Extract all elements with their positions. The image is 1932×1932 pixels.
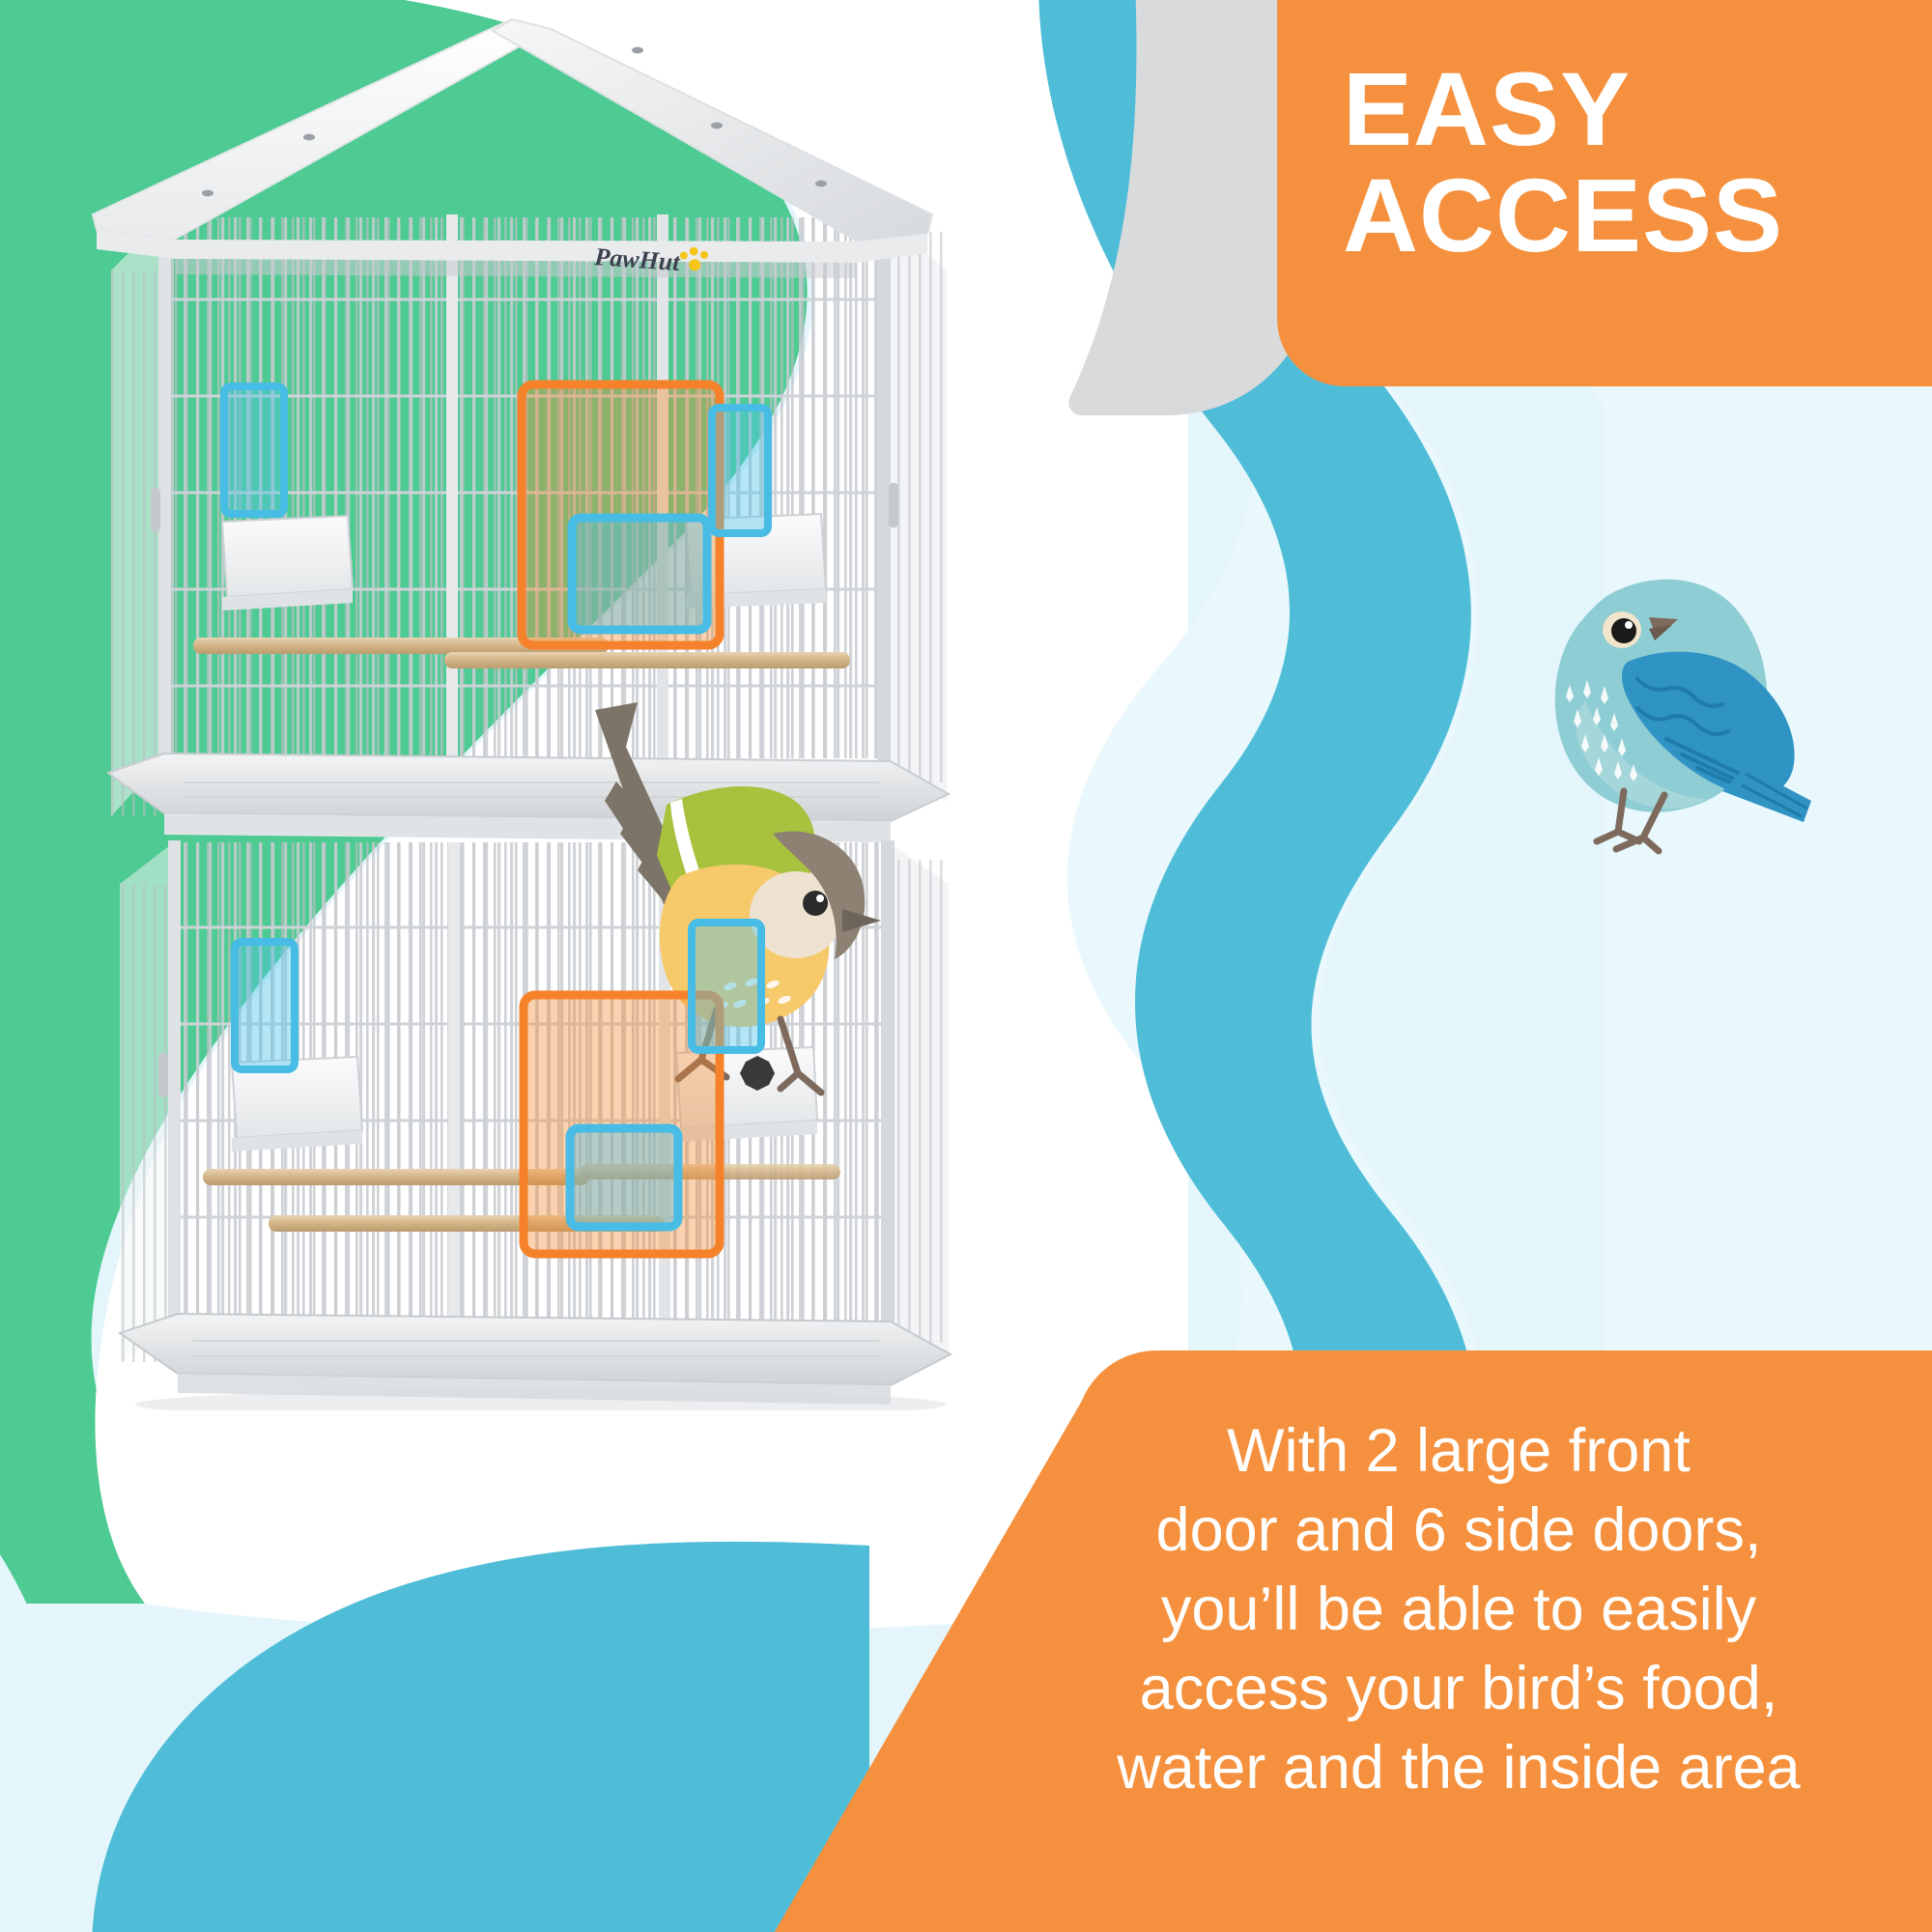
body-copy: With 2 large front door and 6 side doors…: [995, 1412, 1922, 1807]
body-line-1: With 2 large front: [995, 1412, 1922, 1492]
highlight-lower-left-side-door: [235, 942, 295, 1069]
bluebird-eye-glint: [1625, 621, 1633, 629]
blue-bird-illustration: [1492, 555, 1908, 874]
highlight-lower-right-side-door: [692, 923, 761, 1050]
headline-line-2: ACCESS: [1343, 162, 1932, 269]
highlight-lower-center-feeder-door: [570, 1128, 678, 1227]
body-line-2: door and 6 side doors,: [995, 1492, 1922, 1571]
page-title: EASY ACCESS: [1343, 56, 1932, 269]
marketing-banner: PawHut: [0, 0, 1932, 1932]
body-line-3: you’ll be able to easily: [995, 1571, 1922, 1650]
body-line-5: water and the inside area: [995, 1729, 1922, 1808]
body-line-4: access your bird’s food,: [995, 1650, 1922, 1729]
bluebird-eye: [1611, 618, 1636, 643]
highlight-upper-right-side-door: [712, 408, 768, 533]
highlight-upper-left-side-door: [224, 386, 284, 514]
headline-line-1: EASY: [1343, 50, 1631, 167]
highlight-upper-center-feeder-door: [572, 518, 707, 630]
